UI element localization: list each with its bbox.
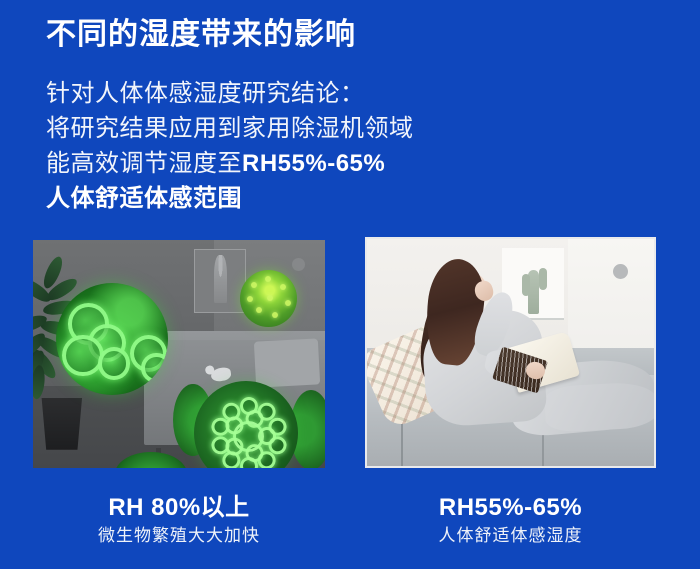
body-line-3-normal: 能高效调节湿度至 bbox=[46, 150, 242, 177]
woman-reading bbox=[367, 239, 654, 466]
wall-speaker-dot bbox=[292, 258, 305, 271]
body-line-4: 人体舒适体感范围 bbox=[46, 181, 466, 216]
caption-right-title: RH55%-65% bbox=[365, 492, 656, 523]
caption-right-subtitle: 人体舒适体感湿度 bbox=[365, 523, 656, 549]
microbe-cluster-large bbox=[56, 283, 168, 395]
wall-art-frame bbox=[194, 249, 246, 313]
caption-left-title: RH 80%以上 bbox=[33, 492, 325, 523]
sofa-cushion bbox=[254, 339, 321, 388]
caption-left-subtitle: 微生物繁殖大大加快 bbox=[33, 523, 325, 549]
microbe-cluster-small bbox=[240, 270, 297, 327]
photo-high-humidity bbox=[33, 240, 325, 468]
body-line-2: 将研究结果应用到家用除湿机领域 bbox=[46, 111, 466, 146]
woman-legs-lower bbox=[544, 381, 656, 433]
caption-high-humidity: RH 80%以上 微生物繁殖大大加快 bbox=[33, 492, 325, 549]
body-line-1: 针对人体体感湿度研究结论： bbox=[46, 76, 466, 111]
body-line-3-emphasis: RH55%-65% bbox=[242, 150, 385, 177]
page-title: 不同的湿度带来的影响 bbox=[46, 16, 356, 54]
body-line-3: 能高效调节湿度至RH55%-65% bbox=[46, 146, 466, 181]
caption-comfort-humidity: RH55%-65% 人体舒适体感湿度 bbox=[365, 492, 656, 549]
humidity-infographic-poster: 不同的湿度带来的影响 针对人体体感湿度研究结论： 将研究结果应用到家用除湿机领域… bbox=[0, 0, 700, 569]
photo-comfort-humidity bbox=[365, 237, 656, 468]
body-copy: 针对人体体感湿度研究结论： 将研究结果应用到家用除湿机领域 能高效调节湿度至RH… bbox=[46, 76, 466, 216]
